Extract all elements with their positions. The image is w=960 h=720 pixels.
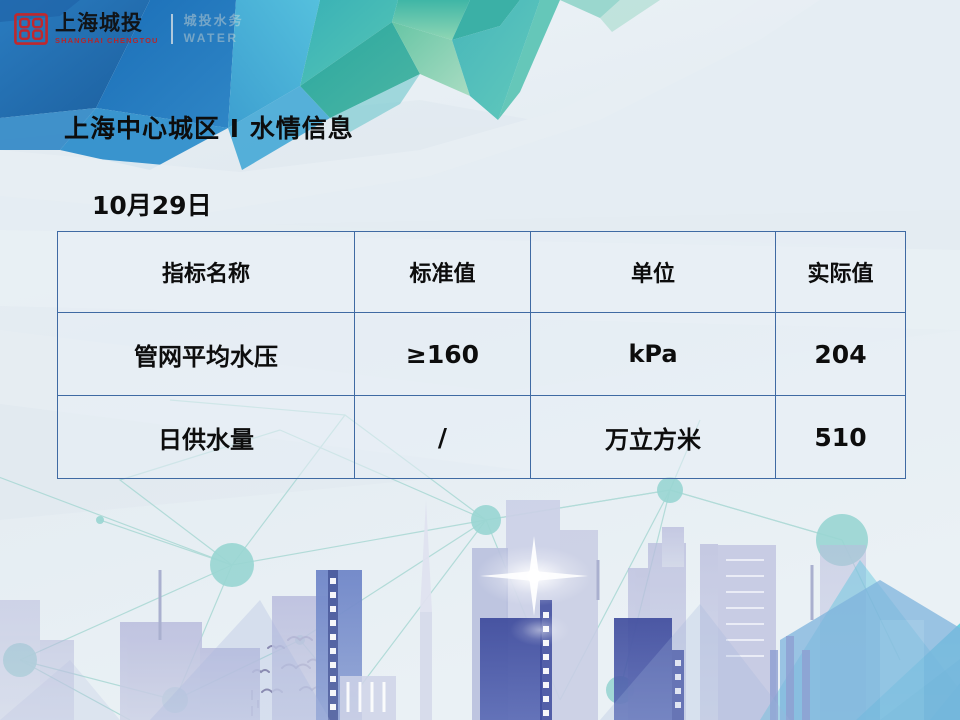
logo-divider <box>171 14 173 44</box>
report-date: 10月29日 <box>92 186 212 222</box>
page-title: 上海中心城区 Ⅰ 水情信息 <box>64 109 354 145</box>
table-row: 管网平均水压 ≥160 kPa 204 <box>58 313 906 396</box>
cell-actual-value: 204 <box>776 313 906 396</box>
table-row: 日供水量 / 万立方米 510 <box>58 396 906 479</box>
column-header-standard: 标准值 <box>355 232 531 313</box>
cell-standard-value: ≥160 <box>355 313 531 396</box>
logo-company-en: SHANGHAI CHENGTOU <box>55 37 159 45</box>
cell-metric-name: 日供水量 <box>58 396 355 479</box>
brand-logo: 上海城投 SHANGHAI CHENGTOU 城投水务 WATER <box>14 8 244 50</box>
column-header-unit: 单位 <box>531 232 776 313</box>
logo-subbrand-en: WATER <box>184 32 244 44</box>
logo-subbrand-cn: 城投水务 <box>184 15 244 28</box>
logo-subbrand: 城投水务 WATER <box>184 15 244 44</box>
logo-company-cn: 上海城投 <box>55 13 159 34</box>
slide-canvas: 上海城投 SHANGHAI CHENGTOU 城投水务 WATER 上海中心城区… <box>0 0 960 720</box>
water-metrics-table: 指标名称 标准值 单位 实际值 管网平均水压 ≥160 kPa 204 日供水量… <box>57 231 906 479</box>
table-header-row: 指标名称 标准值 单位 实际值 <box>58 232 906 313</box>
cell-metric-name: 管网平均水压 <box>58 313 355 396</box>
column-header-metric: 指标名称 <box>58 232 355 313</box>
cell-unit: kPa <box>531 313 776 396</box>
cell-standard-value: / <box>355 396 531 479</box>
column-header-actual: 实际值 <box>776 232 906 313</box>
cell-unit: 万立方米 <box>531 396 776 479</box>
shanghai-chengtou-logo-mark <box>14 13 48 45</box>
cell-actual-value: 510 <box>776 396 906 479</box>
logo-text: 上海城投 SHANGHAI CHENGTOU <box>55 13 159 45</box>
